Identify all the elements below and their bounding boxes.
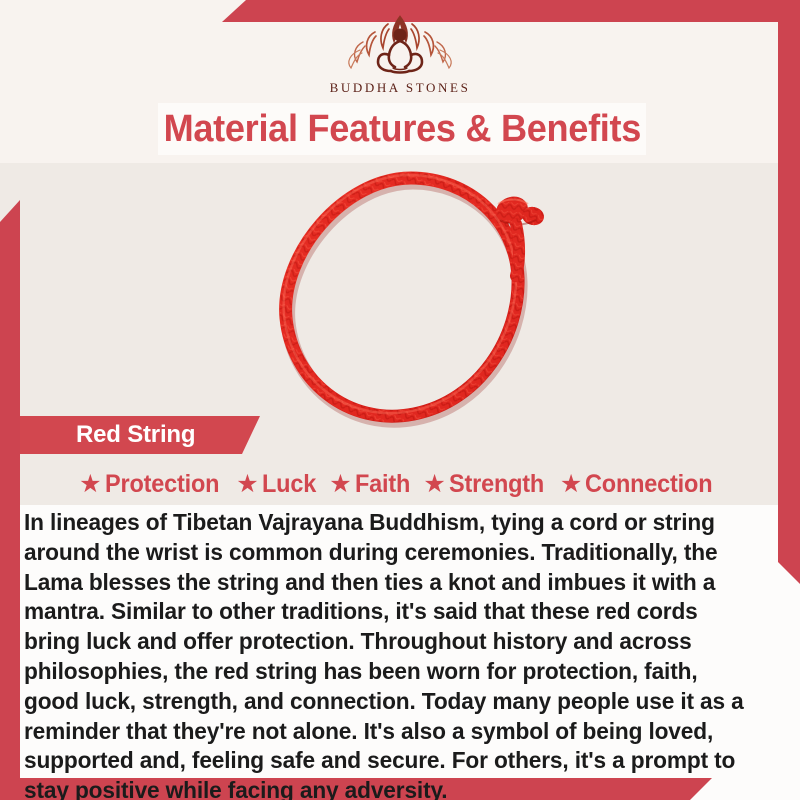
decorative-left-bar [0,200,20,800]
feature-label: Strength [449,470,544,499]
star-icon: ★ [236,472,258,497]
page-title: Material Features & Benefits [163,108,641,151]
feature-label: Faith [355,470,410,499]
title-banner: Material Features & Benefits [158,103,646,155]
description-text: In lineages of Tibetan Vajrayana Buddhis… [24,508,746,800]
feature-item-luck: ★ Luck [231,470,324,499]
feature-list: ★ Protection ★ Luck ★ Faith ★ Strength ★… [22,466,778,502]
infographic-poster: BUDDHA STONES Material Features & Benefi… [0,0,800,800]
star-icon: ★ [329,472,351,497]
feature-item-protection: ★ Protection [74,470,231,499]
feature-item-faith: ★ Faith [324,470,418,499]
feature-item-connection: ★ Connection [555,470,726,499]
star-icon: ★ [423,472,445,497]
feature-label: Luck [262,470,316,499]
section-label-banner: Red String [20,416,260,454]
product-image-red-string-bracelet [248,168,572,453]
section-label: Red String [76,421,195,449]
brand-name: BUDDHA STONES [330,80,471,96]
feature-item-strength: ★ Strength [418,470,555,499]
star-icon: ★ [560,472,582,497]
lotus-meditation-icon [336,12,464,78]
brand-logo: BUDDHA STONES [0,12,800,96]
star-icon: ★ [79,472,101,497]
feature-label: Connection [585,470,712,499]
feature-label: Protection [105,470,219,499]
